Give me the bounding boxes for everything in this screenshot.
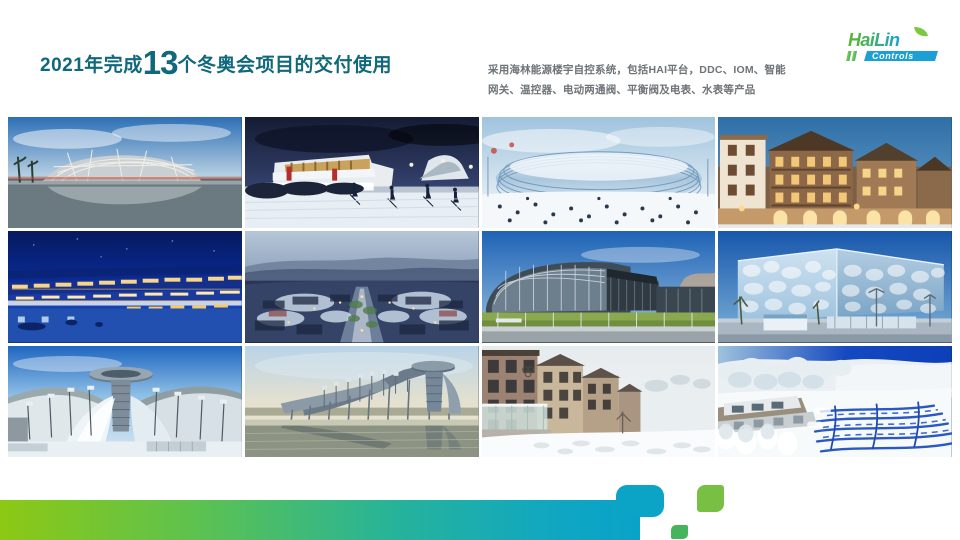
title-suffix: 个冬奥会项目的交付使用 [178,55,393,76]
leaf-icon [914,27,928,36]
title-prefix: 2021年完成 [40,55,143,76]
gallery-item-olympic-resort-hotel[interactable] [718,117,952,228]
header-description: 采用海林能源楼宇自控系统，包括HAI平台，DDC、IOM、智能 网关、温控器、电… [488,60,840,101]
svg-text:Controls: Controls [872,51,914,61]
gallery-item-ski-jumping-centre-snow-ruyi-front[interactable] [8,346,242,457]
gallery-item-national-aquatics-centre-water-cube[interactable] [718,231,952,342]
footer-accent-square-small [671,525,688,539]
gallery-item-olympic-village-buildings-snow[interactable] [482,346,716,457]
page-title: 2021年完成13个冬奥会项目的交付使用 [40,46,392,79]
slide-footer [0,457,960,540]
gallery-item-aerial-resort-village-twilight[interactable] [245,231,479,342]
svg-text:HaiLin: HaiLin [848,30,900,50]
project-gallery-grid [8,117,952,457]
gallery-item-ski-jumping-centre-snow-ruyi-side[interactable] [245,346,479,457]
gallery-item-night-lit-venue-complex[interactable] [8,231,242,342]
header-description-line-1: 采用海林能源楼宇自控系统，包括HAI平台，DDC、IOM、智能 [488,60,840,80]
gallery-item-cross-country-skiing-centre-dusk[interactable] [245,117,479,228]
title-number: 13 [143,44,178,81]
gallery-item-national-stadium-birds-nest[interactable] [8,117,242,228]
slide-root: 2021年完成13个冬奥会项目的交付使用 采用海林能源楼宇自控系统，包括HAI平… [0,0,960,540]
slide-header: 2021年完成13个冬奥会项目的交付使用 采用海林能源楼宇自控系统，包括HAI平… [0,0,960,112]
footer-notch-shape [616,485,664,517]
hailin-controls-logo: HaiLin Controls [846,26,946,66]
gallery-item-biathlon-cross-country-trails[interactable] [718,346,952,457]
gallery-item-curved-roof-glass-arena[interactable] [482,231,716,342]
header-description-line-2: 网关、温控器、电动两通阀、平衡阀及电表、水表等产品 [488,80,840,100]
footer-gradient-bar [0,500,640,540]
footer-accent-square-large [697,485,724,512]
gallery-item-national-speed-skating-oval-ice-ribbon[interactable] [482,117,716,228]
